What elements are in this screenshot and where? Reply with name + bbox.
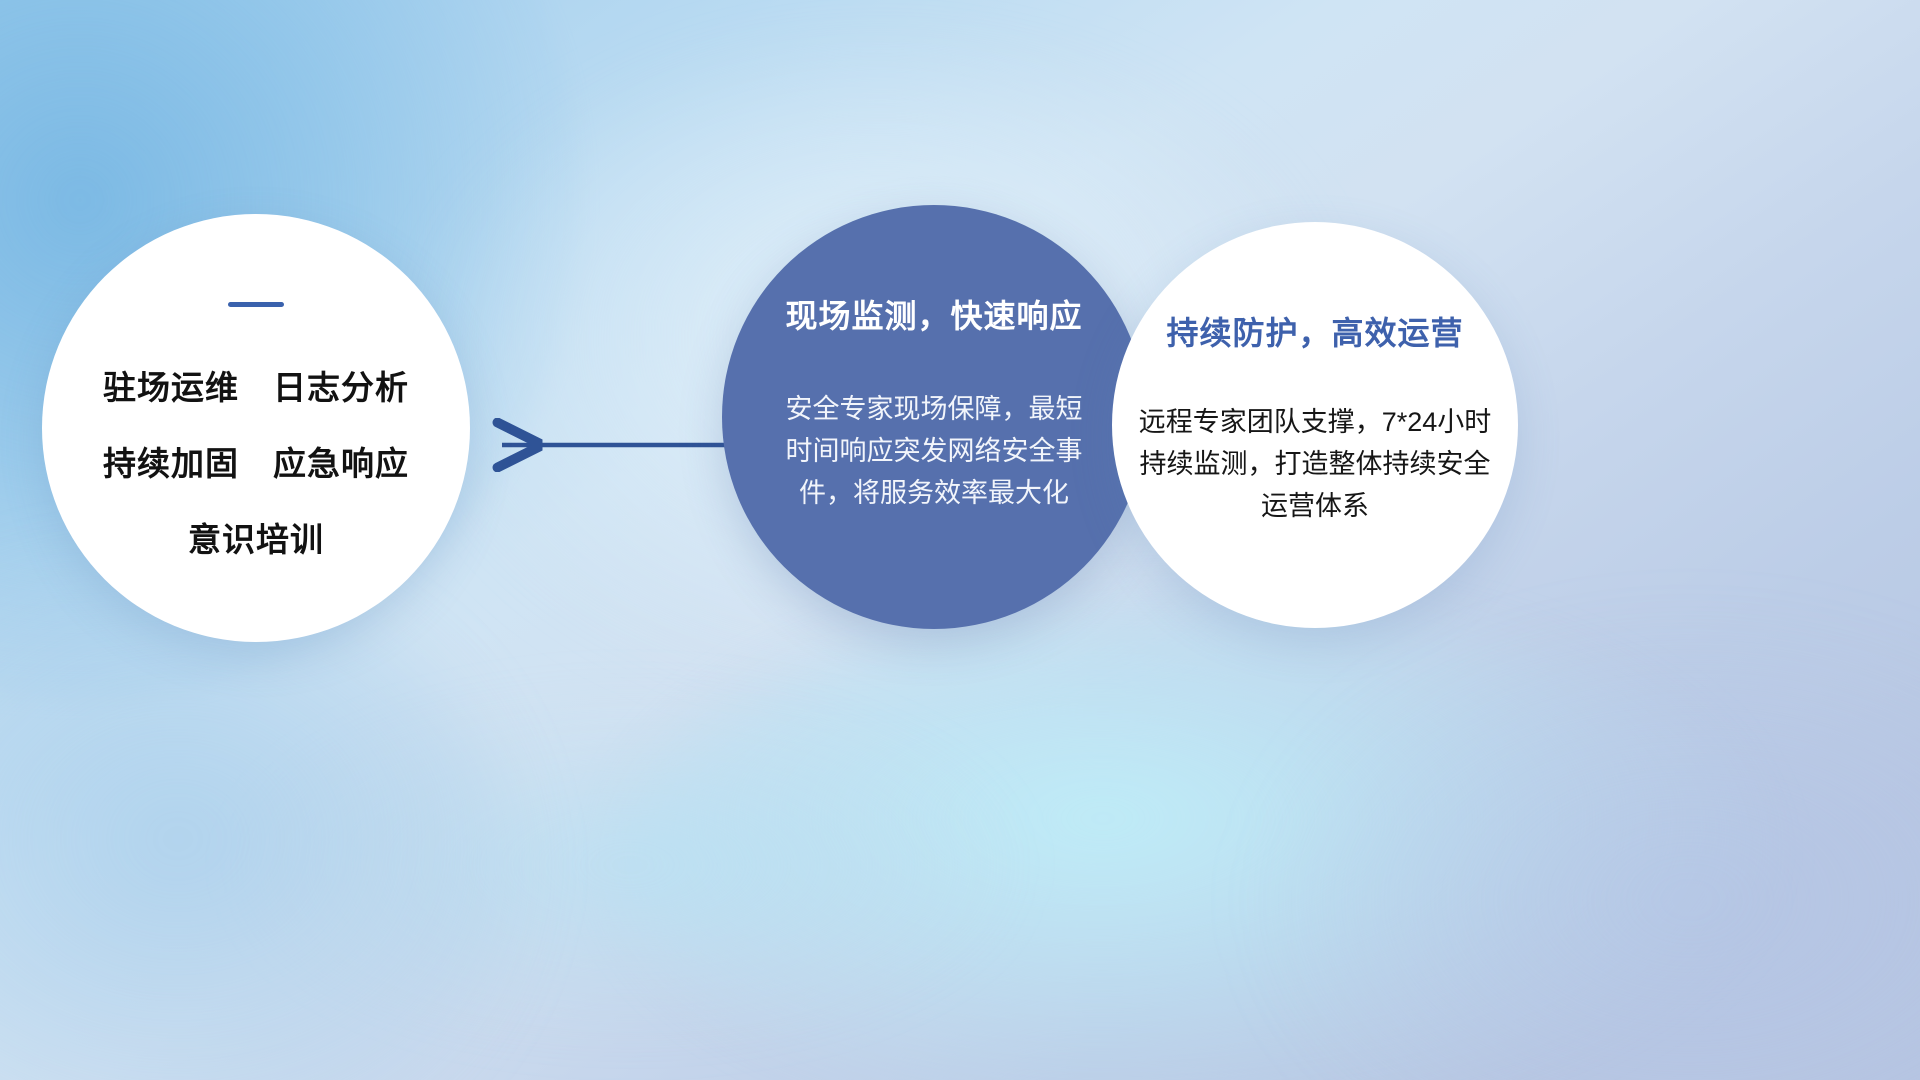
left-circle-inner: 驻场运维 日志分析 持续加固 应急响应 意识培训 — [42, 296, 470, 561]
capability-tag: 意识培训 — [188, 513, 324, 561]
center-circle-title: 现场监测，快速响应 — [785, 291, 1082, 337]
capability-tag-row: 持续加固 应急响应 — [103, 437, 409, 485]
center-circle-onsite-monitoring[interactable]: 现场监测，快速响应 安全专家现场保障，最短时间响应突发网络安全事件，将服务效率最… — [722, 205, 1146, 629]
right-circle-body: 远程专家团队支撑，7*24小时持续监测，打造整体持续安全运营体系 — [1137, 402, 1493, 528]
divider-dash-icon — [228, 302, 284, 307]
capability-tag-row: 意识培训 — [188, 513, 324, 561]
capability-tag-row: 驻场运维 日志分析 — [103, 361, 409, 409]
right-circle-continuous-protection[interactable]: 持续防护，高效运营 远程专家团队支撑，7*24小时持续监测，打造整体持续安全运营… — [1112, 222, 1518, 628]
center-circle-body: 安全专家现场保障，最短时间响应突发网络安全事件，将服务效率最大化 — [784, 389, 1084, 515]
capability-tag-list: 驻场运维 日志分析 持续加固 应急响应 意识培训 — [103, 361, 409, 561]
right-circle-title: 持续防护，高效运营 — [1166, 308, 1463, 354]
capability-tag: 持续加固 — [103, 437, 239, 485]
capability-tag: 应急响应 — [273, 437, 409, 485]
capability-tag: 日志分析 — [273, 361, 409, 409]
slide-canvas: 驻场运维 日志分析 持续加固 应急响应 意识培训 现场监测，快速响应 安全专家现… — [0, 0, 1920, 1080]
capability-tag: 驻场运维 — [103, 361, 239, 409]
left-circle-capability-tags[interactable]: 驻场运维 日志分析 持续加固 应急响应 意识培训 — [42, 214, 470, 642]
